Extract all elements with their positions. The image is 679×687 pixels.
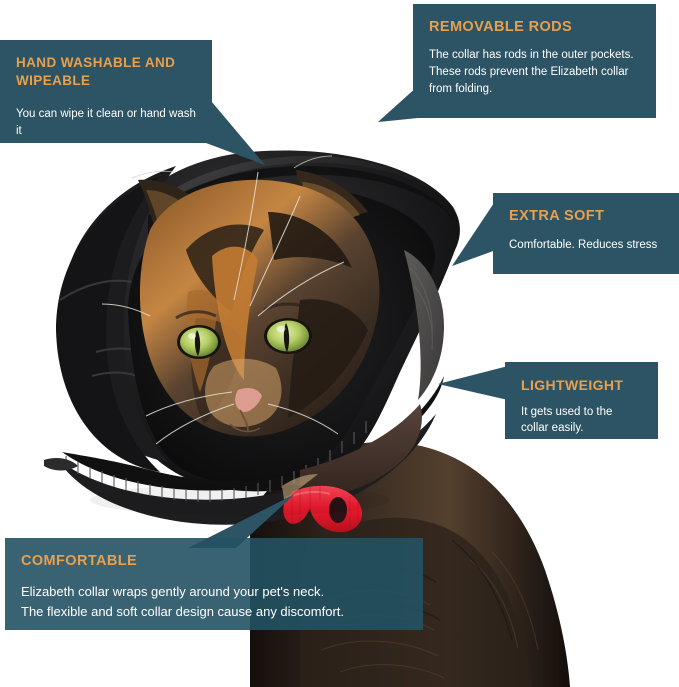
callout-extra-soft: EXTRA SOFT Comfortable. Reduces stress bbox=[493, 193, 679, 274]
callout-lightweight-body: It gets used to the collar easily. bbox=[521, 404, 642, 436]
callout-hand-washable-body: You can wipe it clean or hand wash it bbox=[16, 106, 196, 139]
callout-comfortable-body: Elizabeth collar wraps gently around you… bbox=[21, 582, 407, 622]
callout-removable-rods-body: The collar has rods in the outer pockets… bbox=[429, 47, 640, 99]
cat-eye-left bbox=[177, 325, 221, 359]
callout-extra-soft-body: Comfortable. Reduces stress bbox=[509, 237, 663, 254]
callout-removable-rods-title: REMOVABLE RODS bbox=[429, 18, 640, 38]
infographic-canvas: HAND WASHABLE AND WIPEABLE You can wipe … bbox=[0, 0, 679, 687]
callout-comfortable: COMFORTABLE Elizabeth collar wraps gentl… bbox=[5, 538, 423, 630]
callout-hand-washable: HAND WASHABLE AND WIPEABLE You can wipe … bbox=[0, 40, 212, 143]
callout-lightweight-title: LIGHTWEIGHT bbox=[521, 376, 642, 395]
callout-extra-soft-title: EXTRA SOFT bbox=[509, 207, 663, 227]
callout-hand-washable-title: HAND WASHABLE AND WIPEABLE bbox=[16, 54, 196, 90]
cat-eye-right bbox=[264, 318, 312, 354]
callout-lightweight: LIGHTWEIGHT It gets used to the collar e… bbox=[505, 362, 658, 439]
callout-removable-rods: REMOVABLE RODS The collar has rods in th… bbox=[413, 4, 656, 118]
callout-comfortable-title: COMFORTABLE bbox=[21, 552, 407, 572]
